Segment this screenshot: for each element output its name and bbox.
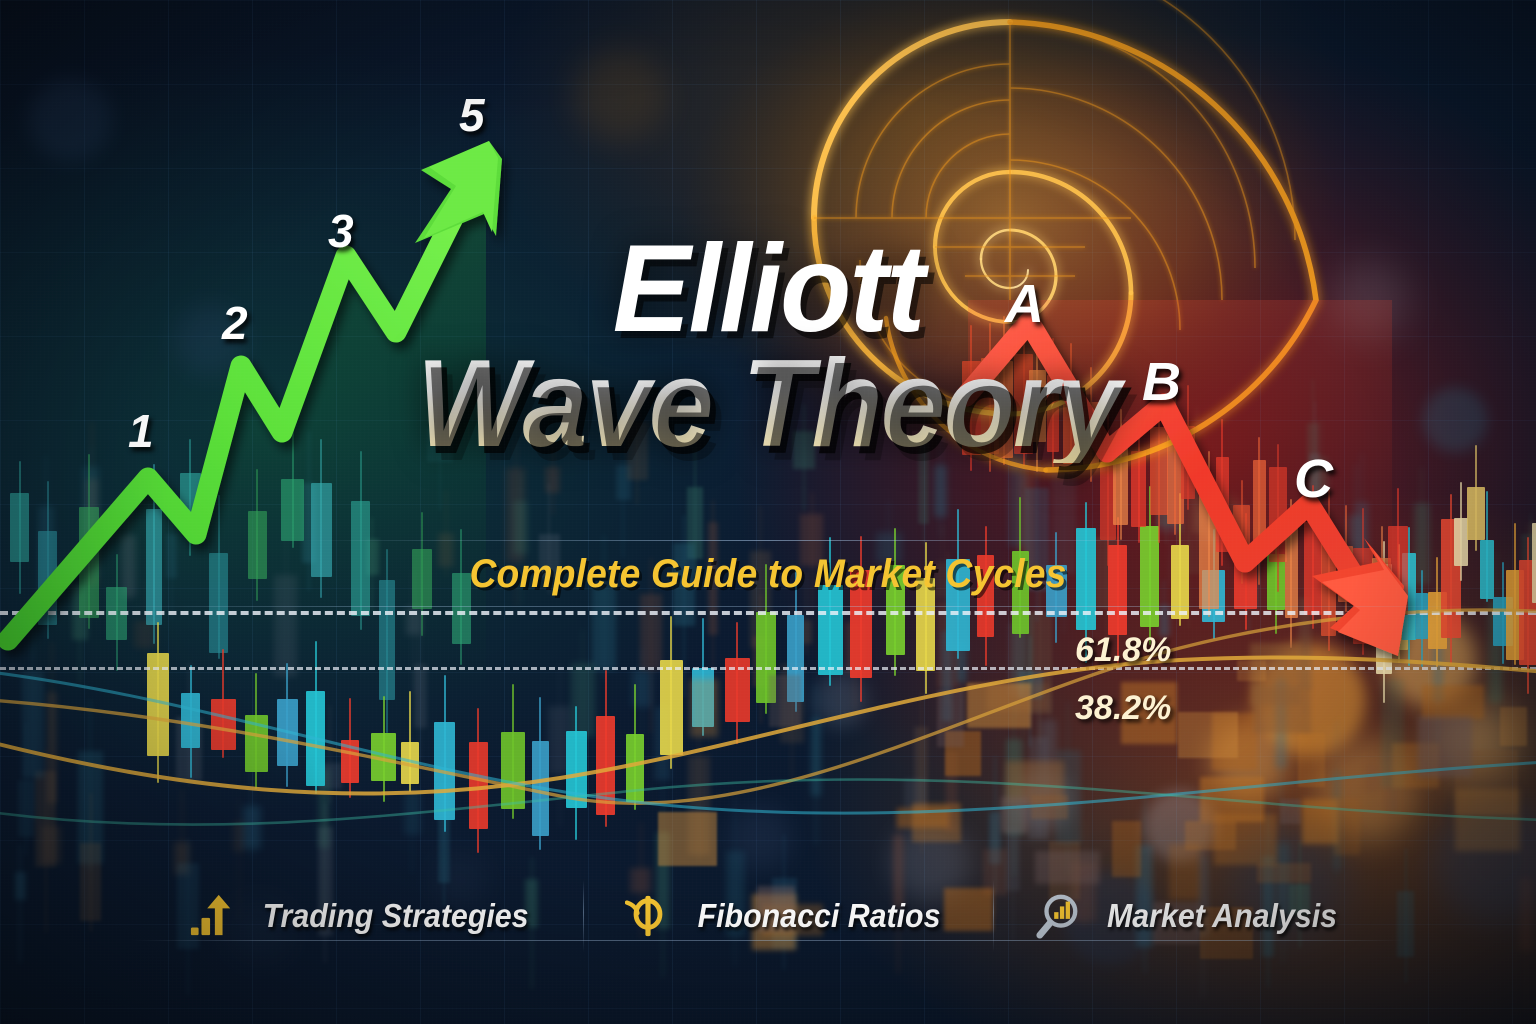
- feature-label: Trading Strategies: [263, 897, 529, 935]
- candle-wick: [605, 670, 607, 827]
- candle-body: [1056, 750, 1080, 844]
- background-block: [1112, 821, 1141, 877]
- candle-wick: [1527, 537, 1529, 694]
- fib-line-382: [0, 667, 1536, 670]
- page-title-line2: Wave Theory: [46, 347, 1490, 462]
- bokeh-light: [1430, 696, 1522, 788]
- candle-body: [989, 812, 1002, 864]
- background-block: [1006, 761, 1064, 805]
- candle-body: [1012, 613, 1033, 689]
- candle-wick: [539, 697, 541, 850]
- candle-body: [632, 670, 651, 707]
- candle-body: [654, 707, 671, 780]
- candle-body: [1383, 754, 1398, 812]
- candle-body: [1432, 602, 1444, 702]
- candle-body: [1029, 737, 1048, 839]
- candle-body: [626, 734, 643, 802]
- candle-body: [245, 715, 269, 773]
- poster-canvas: 1235ABC 61.8%38.2% Elliott Wave Theory C…: [0, 0, 1536, 1024]
- candle-body: [915, 727, 928, 815]
- candle-body: [506, 468, 525, 561]
- candle-wick: [444, 675, 446, 832]
- candle-body: [941, 631, 954, 720]
- candle-body: [1506, 570, 1524, 660]
- candle-wick: [634, 684, 636, 810]
- candle-body: [501, 732, 525, 809]
- candle-body: [800, 620, 812, 644]
- background-block: [987, 683, 1051, 711]
- background-block: [1392, 743, 1438, 788]
- candle-wick: [641, 647, 643, 736]
- noise-overlay: [0, 0, 1536, 1024]
- background-block: [1031, 795, 1068, 819]
- candle-wick: [1022, 581, 1024, 738]
- background-block: [1298, 733, 1325, 787]
- background-block: [937, 690, 965, 747]
- candle-body: [47, 692, 58, 803]
- candle-body: [1364, 764, 1380, 792]
- candle-body: [379, 580, 395, 700]
- background-block: [1302, 799, 1337, 844]
- candle-body: [660, 660, 684, 755]
- candle-wick: [32, 629, 34, 822]
- candle-body: [317, 763, 342, 789]
- candle-wick: [286, 663, 288, 788]
- candle-body: [780, 664, 805, 743]
- candle-wick: [1371, 713, 1373, 808]
- candle-wick: [45, 455, 47, 637]
- candle-body: [1275, 680, 1287, 768]
- feature-label: Market Analysis: [1107, 897, 1337, 935]
- candle-body: [1006, 739, 1023, 835]
- bokeh-light: [24, 74, 116, 166]
- background-candlesticks: [0, 0, 1536, 1024]
- candle-body: [18, 780, 33, 837]
- candle-wick: [1048, 692, 1050, 816]
- candle-wick: [251, 754, 253, 858]
- candle-wick: [921, 691, 923, 852]
- candle-wick: [89, 699, 91, 871]
- background-block: [769, 675, 801, 727]
- candle-body: [592, 586, 616, 671]
- candle-body: [181, 693, 200, 748]
- bokeh-light: [724, 802, 796, 874]
- candle-wick: [1495, 552, 1497, 723]
- candle-wick: [815, 685, 817, 844]
- candle-wick: [1067, 701, 1069, 875]
- candle-wick: [582, 629, 584, 775]
- candle-wick: [1013, 693, 1015, 876]
- candle-wick: [1038, 680, 1040, 838]
- bokeh-light: [810, 670, 870, 730]
- candle-wick: [409, 691, 411, 792]
- background-block: [1418, 716, 1473, 777]
- background-block: [658, 812, 718, 866]
- subtitle-divider: [40, 606, 1496, 607]
- candle-body: [176, 717, 202, 782]
- background-block: [690, 679, 718, 737]
- candle-wick: [854, 591, 856, 709]
- bokeh-light: [1140, 786, 1220, 866]
- candle-wick: [50, 770, 52, 862]
- candle-body: [1018, 671, 1043, 699]
- candle-wick: [285, 517, 287, 714]
- candle-wick: [1392, 635, 1394, 816]
- candle-wick: [662, 661, 664, 810]
- candle-body: [1332, 771, 1343, 870]
- candle-body: [38, 506, 54, 607]
- background-block: [1237, 660, 1266, 681]
- candle-body: [1191, 464, 1204, 534]
- candle-body: [1008, 623, 1025, 696]
- background-block: [1178, 712, 1238, 757]
- candle-body: [811, 718, 822, 796]
- candle-wick: [1486, 491, 1488, 602]
- candle-wick: [512, 684, 514, 819]
- candle-body: [281, 479, 303, 542]
- title-divider: [300, 540, 1236, 541]
- candle-wick: [914, 725, 916, 838]
- page-title-line1: Elliott: [46, 232, 1490, 347]
- candle-wick: [1336, 720, 1338, 876]
- background-block: [1250, 643, 1301, 705]
- candle-wick: [477, 708, 479, 853]
- candle-wick: [188, 662, 190, 786]
- candle-body: [548, 706, 571, 774]
- candle-body: [414, 664, 427, 728]
- candle-body: [1216, 457, 1229, 552]
- candle-body: [1467, 487, 1485, 540]
- impulse-wave-arrow: [0, 0, 1536, 1024]
- candle-body: [1532, 523, 1536, 603]
- candle-wick: [994, 756, 996, 894]
- candle-wick: [1390, 711, 1392, 832]
- candle-wick: [181, 788, 183, 873]
- feature-label: Fibonacci Ratios: [697, 897, 940, 935]
- candle-wick: [946, 581, 948, 721]
- candle-wick: [157, 622, 159, 783]
- background-block: [1455, 750, 1517, 814]
- candle-wick: [47, 481, 49, 639]
- candle-wick: [190, 665, 192, 778]
- candle-wick: [19, 461, 21, 594]
- page-subtitle: Complete Guide to Market Cycles: [54, 552, 1482, 597]
- golden-spiral-icon: [0, 0, 1536, 1024]
- candle-body: [174, 842, 191, 875]
- candle-body: [818, 585, 842, 676]
- bokeh-light: [1194, 494, 1246, 546]
- background-block: [912, 803, 960, 842]
- background-block: [1280, 799, 1302, 824]
- candle-wick: [961, 617, 963, 726]
- background-block: [1422, 685, 1484, 719]
- background-block: [967, 683, 1032, 728]
- background-block: [1001, 797, 1029, 832]
- background-block: [1200, 777, 1265, 822]
- candle-wick: [25, 722, 27, 856]
- candle-wick: [950, 700, 952, 832]
- candle-wick: [1530, 513, 1532, 600]
- candle-body: [753, 636, 768, 687]
- candle-body: [956, 641, 967, 681]
- magnifier-bar-chart-icon: [1035, 893, 1081, 939]
- candle-wick: [1016, 588, 1018, 719]
- bar-chart-up-arrow-icon: [189, 893, 235, 939]
- candle-body: [1521, 534, 1536, 567]
- bokeh-light: [1248, 638, 1372, 762]
- candle-body: [1029, 612, 1051, 714]
- candle-wick: [315, 641, 317, 794]
- trend-curves: [0, 0, 1536, 1024]
- candle-body: [756, 612, 777, 703]
- candle-wick: [736, 622, 738, 744]
- candle-wick: [419, 612, 421, 760]
- candle-wick: [575, 706, 577, 840]
- candle-body: [41, 826, 61, 864]
- candle-body: [180, 473, 201, 526]
- candle-wick: [759, 505, 761, 692]
- feature-item-trading-strategies[interactable]: Trading Strategies: [147, 884, 582, 948]
- candle-body: [1269, 467, 1287, 563]
- candle-wick: [1029, 636, 1031, 747]
- candle-body: [469, 742, 488, 829]
- candle-body: [277, 699, 297, 766]
- candle-wick: [222, 649, 224, 758]
- candle-body: [1432, 753, 1449, 780]
- candle-body: [596, 716, 615, 815]
- candle-body: [1428, 592, 1447, 649]
- candle-body: [513, 501, 528, 554]
- candle-body: [306, 691, 325, 786]
- candle-wick: [894, 528, 896, 676]
- feature-item-market-analysis[interactable]: Market Analysis: [993, 884, 1389, 948]
- candle-body: [371, 733, 395, 781]
- candle-body: [233, 822, 244, 852]
- candle-wick: [702, 618, 704, 736]
- candle-body: [1493, 597, 1513, 646]
- candle-body: [904, 779, 926, 812]
- background-block: [1214, 814, 1277, 866]
- candle-body: [78, 751, 103, 864]
- candle-wick: [411, 738, 413, 874]
- bokeh-light: [1206, 716, 1294, 804]
- candle-body: [22, 671, 44, 778]
- fib-label-618: 61.8%: [1075, 631, 1171, 670]
- candle-body: [318, 769, 330, 849]
- candle-body: [341, 740, 360, 783]
- bokeh-lights: [0, 0, 1536, 1024]
- candle-body: [401, 742, 419, 785]
- candle-body: [35, 771, 56, 867]
- candle-wick: [670, 616, 672, 769]
- candle-body: [134, 621, 157, 647]
- candle-body: [688, 756, 710, 856]
- phi-symbol-icon: [625, 893, 671, 939]
- background-block: [1212, 713, 1257, 770]
- candle-wick: [698, 697, 700, 860]
- candle-body: [1253, 460, 1267, 556]
- background-block: [945, 731, 982, 776]
- bokeh-light: [1378, 608, 1482, 712]
- background-block: [1455, 789, 1520, 851]
- bokeh-light: [568, 44, 672, 148]
- candle-body: [845, 622, 863, 674]
- candle-body: [945, 752, 959, 832]
- vignette-overlay: [0, 0, 1536, 1024]
- candle-body: [243, 806, 261, 850]
- feature-item-fibonacci-ratios[interactable]: Fibonacci Ratios: [583, 884, 993, 948]
- feature-bar: Trading StrategiesFibonacci RatiosMarket…: [0, 876, 1536, 956]
- candle-wick: [88, 454, 90, 629]
- candle-wick: [1188, 437, 1190, 628]
- candle-body: [1040, 720, 1057, 793]
- candle-wick: [349, 698, 351, 799]
- candle-body: [571, 663, 595, 737]
- candle-wick: [383, 696, 385, 802]
- background-block: [1500, 707, 1527, 747]
- candle-body: [1381, 679, 1404, 787]
- candle-body: [211, 699, 236, 750]
- candle-body: [692, 668, 714, 728]
- background-block: [897, 808, 948, 829]
- candle-body: [1528, 523, 1536, 587]
- candle-body: [687, 487, 703, 560]
- bokeh-light: [1006, 768, 1074, 836]
- candle-wick: [1439, 724, 1441, 829]
- background-block: [1334, 798, 1361, 855]
- candle-body: [1131, 451, 1146, 527]
- background-grid: [0, 0, 1536, 1024]
- candle-wick: [1280, 654, 1282, 803]
- wave-glow-layer: [0, 0, 1536, 1024]
- candle-body: [532, 741, 549, 836]
- background-gradient: [0, 0, 1536, 1024]
- candle-body: [1233, 505, 1250, 557]
- candle-body: [438, 783, 450, 883]
- candle-body: [787, 615, 804, 702]
- candle-body: [404, 791, 422, 835]
- candle-wick: [791, 605, 793, 779]
- candle-body: [1415, 593, 1428, 639]
- candle-wick: [255, 673, 257, 789]
- impulse-wave-label-5: 5: [459, 92, 485, 138]
- fib-label-382: 38.2%: [1075, 689, 1171, 728]
- candle-wick: [559, 661, 561, 827]
- candle-wick: [460, 529, 462, 664]
- background-block: [1253, 686, 1311, 733]
- corrective-wave-arrow: [0, 0, 1536, 1024]
- candle-body: [566, 731, 587, 807]
- background-block: [1185, 821, 1236, 850]
- candle-body: [434, 722, 456, 821]
- fib-line-618: [0, 611, 1536, 615]
- title-block: Elliott Wave Theory: [0, 232, 1536, 463]
- candle-wick: [329, 705, 331, 804]
- candle-wick: [1039, 584, 1041, 744]
- bokeh-light: [1308, 732, 1424, 848]
- candle-wick: [1514, 523, 1516, 665]
- candle-body: [10, 493, 29, 562]
